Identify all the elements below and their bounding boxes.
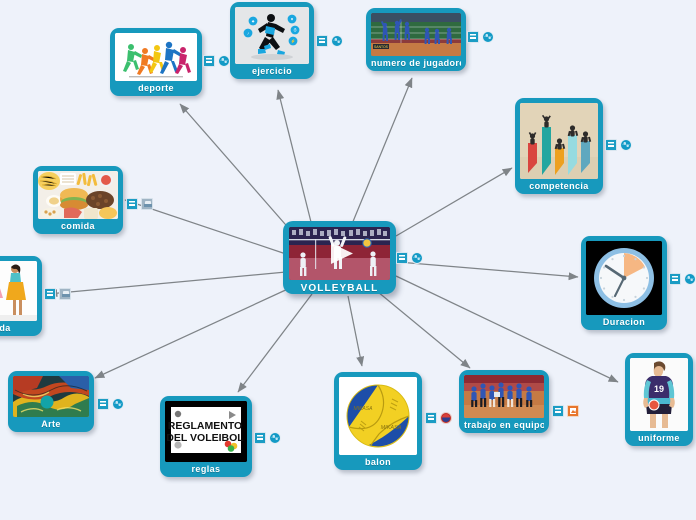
node-balon[interactable]: MIKASA MIKASA balon <box>334 372 422 470</box>
svg-text:MIKASA: MIKASA <box>381 425 402 431</box>
edge-to-reglas <box>238 294 312 392</box>
edge-to-duracion <box>398 262 578 277</box>
trabajo-equipo-thumbnail[interactable] <box>464 375 544 418</box>
node-label: numero de jugadores <box>371 56 461 71</box>
node-moda[interactable]: da <box>0 256 42 336</box>
svg-text:♪: ♪ <box>247 31 249 36</box>
edge-to-balon <box>348 296 362 366</box>
reglas-thumbnail[interactable]: REGLAMENTO DEL VOLEIBOL <box>165 401 247 462</box>
svg-text:⚡: ⚡ <box>291 39 296 44</box>
play-button-icon[interactable] <box>289 227 390 280</box>
edge-to-deporte <box>180 104 292 232</box>
node-label: uniforme <box>630 431 688 446</box>
edge-to-numero-jugadores <box>352 78 412 224</box>
node-numero-de-jugadores[interactable]: SANTOS numero de jugadores <box>366 8 466 71</box>
arte-badges[interactable] <box>97 398 124 410</box>
volleyball-ball-image: MIKASA MIKASA <box>339 377 417 455</box>
trabajo-equipo-badges[interactable] <box>552 405 579 417</box>
note-icon[interactable] <box>97 398 109 410</box>
runners-illustration <box>115 33 197 81</box>
note-icon[interactable] <box>44 288 56 300</box>
uniforme-thumbnail[interactable]: 19 <box>630 358 688 431</box>
central-node-badges[interactable] <box>396 252 423 264</box>
note-icon[interactable] <box>467 31 479 43</box>
node-label: Arte <box>13 417 89 432</box>
balon-badges[interactable] <box>425 412 452 424</box>
reglas-line1: REGLAMENTO <box>168 420 242 432</box>
globe-icon[interactable] <box>218 55 230 67</box>
node-label: ejercicio <box>235 64 309 79</box>
svg-text:SANTOS: SANTOS <box>374 45 389 49</box>
node-competencia[interactable]: competencia <box>515 98 603 194</box>
note-icon[interactable] <box>316 35 328 47</box>
fashion-illustration <box>0 261 37 321</box>
edge-to-competencia <box>396 168 512 236</box>
globe-icon[interactable] <box>684 273 696 285</box>
numero-jugadores-badges[interactable] <box>467 31 494 43</box>
edge-to-trabajo-en-equipo <box>378 292 470 368</box>
node-label: reglas <box>165 462 247 477</box>
edge-to-arte <box>95 288 290 378</box>
comida-badges[interactable] <box>126 198 153 210</box>
food-image <box>38 171 118 219</box>
globe-icon[interactable] <box>269 432 281 444</box>
duracion-thumbnail[interactable] <box>586 241 662 315</box>
note-icon[interactable] <box>396 252 408 264</box>
comida-thumbnail[interactable] <box>38 171 118 219</box>
reglas-line2: DEL VOLEIBOL <box>166 432 244 444</box>
node-label: comida <box>38 219 118 234</box>
edge-to-ejercicio <box>278 90 312 226</box>
note-icon[interactable] <box>669 273 681 285</box>
central-video-thumbnail[interactable] <box>289 227 390 280</box>
ejercicio-thumbnail[interactable]: ♣♪ ♥⏱⚡ <box>235 7 309 64</box>
node-label: competencia <box>520 179 598 194</box>
image-icon[interactable] <box>567 405 579 417</box>
podium-chart-illustration <box>520 103 598 179</box>
note-icon[interactable] <box>126 198 138 210</box>
node-label: balon <box>339 455 417 470</box>
svg-text:♣: ♣ <box>252 19 255 24</box>
competencia-thumbnail[interactable] <box>520 103 598 179</box>
node-uniforme[interactable]: 19 uniforme <box>625 353 693 446</box>
globe-icon[interactable] <box>331 35 343 47</box>
note-icon[interactable] <box>552 405 564 417</box>
attach-icon[interactable] <box>141 198 153 210</box>
globe-icon[interactable] <box>411 252 423 264</box>
node-comida[interactable]: comida <box>33 166 123 234</box>
reglamento-video-thumbnail: REGLAMENTO DEL VOLEIBOL <box>165 401 247 462</box>
abstract-art-image <box>13 376 89 417</box>
edge-to-moda <box>48 272 286 294</box>
svg-text:MIKASA: MIKASA <box>354 406 374 412</box>
node-arte[interactable]: Arte <box>8 371 94 432</box>
clock-illustration <box>586 241 662 315</box>
node-reglas[interactable]: REGLAMENTO DEL VOLEIBOL reglas <box>160 396 252 477</box>
team-celebration-image <box>464 375 544 418</box>
node-deporte[interactable]: deporte <box>110 28 202 96</box>
globe-icon[interactable] <box>112 398 124 410</box>
note-icon[interactable] <box>425 412 437 424</box>
node-label: da <box>0 321 37 336</box>
node-trabajo-en-equipo[interactable]: trabajo en equipo <box>459 370 549 433</box>
deporte-badges[interactable] <box>203 55 230 67</box>
globe-icon[interactable] <box>482 31 494 43</box>
numero-jugadores-thumbnail[interactable]: SANTOS <box>371 13 461 56</box>
duracion-badges[interactable] <box>669 273 696 285</box>
node-label: trabajo en equipo <box>464 418 544 433</box>
moda-thumbnail[interactable] <box>0 261 37 321</box>
players-on-court-image: SANTOS <box>371 13 461 56</box>
central-node-volleyball[interactable]: VOLLEYBALL <box>283 221 396 294</box>
attach-icon[interactable] <box>59 288 71 300</box>
node-duracion[interactable]: Duracion <box>581 236 667 330</box>
note-icon[interactable] <box>254 432 266 444</box>
ejercicio-badges[interactable] <box>316 35 343 47</box>
note-icon[interactable] <box>203 55 215 67</box>
deporte-thumbnail[interactable] <box>115 33 197 81</box>
exercise-illustration: ♣♪ ♥⏱⚡ <box>235 7 309 64</box>
competencia-badges[interactable] <box>605 139 632 151</box>
jersey-number: 19 <box>654 384 664 394</box>
node-ejercicio[interactable]: ♣♪ ♥⏱⚡ ejercicio <box>230 2 314 79</box>
node-label: deporte <box>115 81 197 96</box>
reglas-badges[interactable] <box>254 432 281 444</box>
node-label: Duracion <box>586 315 662 330</box>
globe-icon[interactable] <box>620 139 632 151</box>
central-node-label: VOLLEYBALL <box>289 280 390 297</box>
mindmap-canvas: VOLLEYBALL deporte <box>0 0 696 520</box>
note-icon[interactable] <box>605 139 617 151</box>
arte-thumbnail[interactable] <box>13 376 89 417</box>
balon-thumbnail[interactable]: MIKASA MIKASA <box>339 377 417 455</box>
volleyball-player-uniform-image: 19 <box>630 358 688 431</box>
ball-icon[interactable] <box>440 412 452 424</box>
svg-text:⏱: ⏱ <box>293 28 296 33</box>
moda-badges[interactable] <box>44 288 71 300</box>
